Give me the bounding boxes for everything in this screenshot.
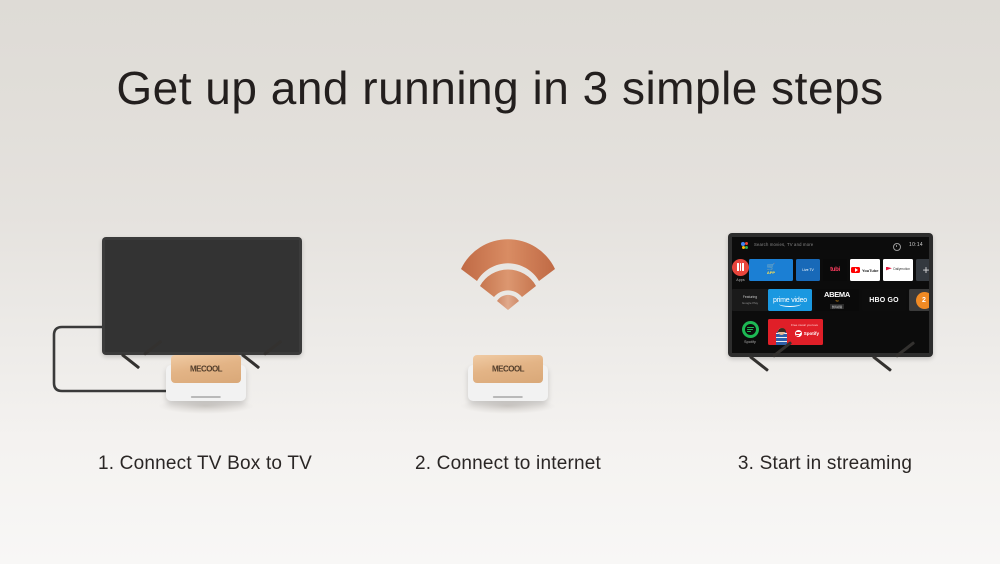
app-tile-subtitle: TV <box>835 299 839 303</box>
featured-sublabel: Google Play <box>742 301 758 305</box>
app-tile-hbo-go[interactable]: HBO GO <box>862 289 906 311</box>
spotify-launcher-label: Spotify <box>744 340 756 344</box>
app-tile-youtube[interactable]: YouTube <box>850 259 880 281</box>
app-tile-abema[interactable]: ABEMA TV 無料視聴 <box>815 289 859 311</box>
step-3: Search movies, TV and more 10:14 Apps <box>660 215 990 475</box>
spotify-wordmark: Spotify <box>804 331 819 336</box>
app-tile-title: tubi <box>830 267 840 273</box>
app-tile-title: APP <box>767 271 775 275</box>
app-tile-dailymotion[interactable]: Dailymotion <box>883 259 913 281</box>
app-tile-title: YouTube <box>862 268 879 273</box>
shirt-stripe <box>776 337 787 338</box>
television-step3: Search movies, TV and more 10:14 Apps <box>728 233 943 381</box>
tvbox-slot <box>191 396 221 398</box>
tv-leg-left-outer <box>749 355 769 371</box>
spotify-launcher[interactable]: Spotify <box>732 317 768 347</box>
atv-topbar: Search movies, TV and more 10:14 <box>732 237 929 254</box>
amazon-smile-icon <box>779 301 801 307</box>
apps-launcher-label: Apps <box>736 278 745 282</box>
tv-leg-right-outer <box>872 355 892 371</box>
android-tv-home: Search movies, TV and more 10:14 Apps <box>732 237 929 353</box>
atv-row-spotify: Spotify Free music you love <box>732 317 929 347</box>
step-2: MECOOL 2. Connect to internet <box>378 215 638 475</box>
search-input[interactable]: Search movies, TV and more <box>754 242 813 247</box>
tvbox-top-panel: MECOOL <box>171 355 241 383</box>
tv-screen-on: Search movies, TV and more 10:14 Apps <box>732 237 929 353</box>
page-title: Get up and running in 3 simple steps <box>0 62 1000 115</box>
tv-leg-left-outer <box>121 353 140 369</box>
tvbox-step2: MECOOL <box>468 355 548 401</box>
atv-row-apps: Apps 🛒 APP Get MY APP Live TV <box>732 257 929 283</box>
slide-canvas: Get up and running in 3 simple steps <box>0 0 1000 564</box>
tvbox-brand-logo: MECOOL <box>492 365 524 374</box>
step-1: MECOOL 1. Connect TV Box to TV <box>40 215 370 475</box>
tvbox-top-panel: MECOOL <box>473 355 543 383</box>
step-2-caption: 2. Connect to internet <box>378 453 638 475</box>
app-tile-tubi[interactable]: tubi <box>823 259 847 281</box>
app-tile-title: Dailymotion <box>893 268 910 272</box>
app-tile-live-tv[interactable]: Live TV <box>796 259 820 281</box>
gear-icon[interactable] <box>893 243 901 251</box>
youtube-play-icon <box>851 267 860 274</box>
person-hair <box>778 328 786 333</box>
spotify-promo-banner[interactable]: Free music you love Spotify <box>768 319 823 345</box>
brand-mark-icon <box>886 267 892 274</box>
app-tile-get-my-app[interactable]: 🛒 APP Get MY APP <box>749 259 793 281</box>
apps-launcher[interactable]: Apps <box>732 257 749 283</box>
tv-bezel: Search movies, TV and more 10:14 Apps <box>728 233 933 357</box>
spotify-icon <box>742 321 759 338</box>
clock-label: 10:14 <box>909 242 923 248</box>
tvbox-slot <box>493 396 523 398</box>
app-tile-title: HBO GO <box>869 297 899 304</box>
shirt-stripe <box>776 341 787 342</box>
tv-bezel <box>102 237 302 355</box>
spotify-logo: Spotify <box>795 330 819 337</box>
featured-launcher: Featuring Google Play <box>732 287 768 313</box>
atv-row-featured: Featuring Google Play prime video ABEMA <box>732 287 929 313</box>
app-tile-title: ABEMA <box>824 291 850 299</box>
app-tile-orange[interactable]: 2 <box>909 289 929 311</box>
banner-tagline: Free music you love <box>791 323 818 327</box>
add-app-tile[interactable]: + <box>916 259 929 281</box>
app-tile-title: 2 <box>922 297 926 304</box>
wifi-icon <box>453 229 563 311</box>
tvbox-step1: MECOOL <box>166 355 246 401</box>
app-tile-badge: 2 <box>916 292 930 309</box>
plus-icon: + <box>922 264 929 276</box>
tvbox-brand-logo: MECOOL <box>190 365 222 374</box>
app-tile-tag: 無料視聴 <box>830 304 844 309</box>
app-tile-title: Live TV <box>802 268 813 272</box>
featured-label: Featuring <box>743 295 757 299</box>
step-3-caption: 3. Start in streaming <box>660 453 990 475</box>
apps-grid-icon <box>732 259 749 276</box>
google-assistant-icon[interactable] <box>741 242 748 249</box>
app-tile-prime-video[interactable]: prime video <box>768 289 812 311</box>
tv-screen-off <box>105 240 299 352</box>
step-1-caption: 1. Connect TV Box to TV <box>40 453 370 475</box>
